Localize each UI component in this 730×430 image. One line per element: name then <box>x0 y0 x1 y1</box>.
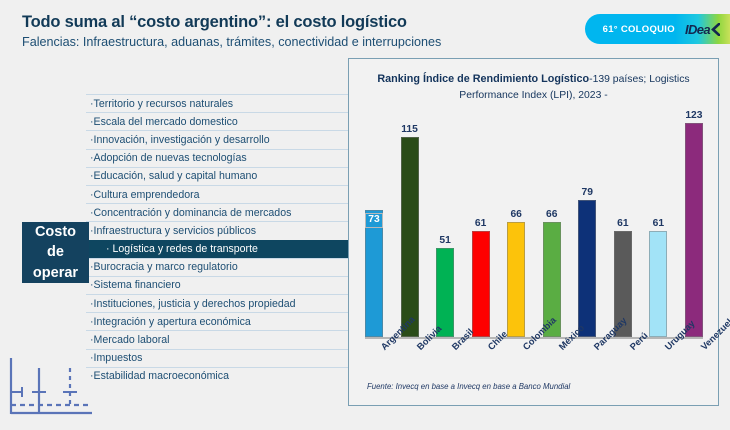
factor-row[interactable]: ·Innovación, investigación y desarrollo <box>86 130 348 148</box>
factor-label: · Logística y redes de transporte <box>86 243 258 255</box>
factor-label: ·Educación, salud y capital humano <box>86 170 257 182</box>
factor-label: ·Integración y apertura económica <box>86 316 251 328</box>
factor-row[interactable]: ·Burocracia y marco regulatorio <box>86 258 348 276</box>
bar-bolivia[interactable] <box>401 137 419 337</box>
factor-label: ·Instituciones, justicia y derechos prop… <box>86 298 296 310</box>
coloquio-badge-label: 61° COLOQUIO <box>603 24 675 35</box>
bar-uruguay[interactable] <box>649 231 667 337</box>
bar-argentina[interactable] <box>365 210 383 337</box>
costo-box-line-3: operar <box>33 263 78 284</box>
chart-title-main: Ranking Índice de Rendimiento Logístico <box>377 73 589 85</box>
factor-label: ·Adopción de nuevas tecnologías <box>86 152 247 164</box>
bar-slot: 61 <box>614 111 632 337</box>
factor-row[interactable]: ·Instituciones, justicia y derechos prop… <box>86 294 348 312</box>
bar-slot: 73 <box>365 111 383 337</box>
factor-label: ·Burocracia y marco regulatorio <box>86 261 238 273</box>
page-title: Todo suma al “costo argentino”: el costo… <box>22 13 407 32</box>
factor-row[interactable]: ·Estabilidad macroeconómica <box>86 367 348 385</box>
decorative-chart-icon <box>8 350 94 422</box>
factor-label: ·Mercado laboral <box>86 334 170 346</box>
bar-slot: 79 <box>578 111 596 337</box>
bar-group: 7311551616666796161123 <box>361 111 707 337</box>
bar-colombia[interactable] <box>507 222 525 337</box>
chevron-left-icon <box>711 23 720 36</box>
chart-title: Ranking Índice de Rendimiento Logístico-… <box>349 72 718 103</box>
factor-row[interactable]: ·Infraestructura y servicios públicos <box>86 221 348 239</box>
factor-row[interactable]: ·Adopción de nuevas tecnologías <box>86 149 348 167</box>
bar-value-label: 115 <box>401 125 418 135</box>
chart-panel: Ranking Índice de Rendimiento Logístico-… <box>348 58 719 406</box>
bar-slot: 51 <box>436 111 454 337</box>
bar-chile[interactable] <box>472 231 490 337</box>
factor-label: ·Territorio y recursos naturales <box>86 98 233 110</box>
factor-label: ·Infraestructura y servicios públicos <box>86 225 256 237</box>
costo-de-operar-box: Costo de operar <box>22 222 89 283</box>
factor-label: ·Innovación, investigación y desarrollo <box>86 134 270 146</box>
factor-row[interactable]: ·Escala del mercado domestico <box>86 112 348 130</box>
factor-list: ·Territorio y recursos naturales·Escala … <box>86 94 348 385</box>
bar-slot: 66 <box>507 111 525 337</box>
bar-value-label: 61 <box>617 219 628 229</box>
costo-box-line-1: Costo <box>35 222 76 243</box>
factor-row[interactable]: ·Educación, salud y capital humano <box>86 167 348 185</box>
factor-row[interactable]: ·Integración y apertura económica <box>86 312 348 330</box>
factor-label: ·Concentración y dominancia de mercados <box>86 207 291 219</box>
costo-box-line-2: de <box>47 242 64 263</box>
plot-area: 7311551616666796161123 <box>361 111 707 337</box>
bar-value-label: 123 <box>685 111 702 121</box>
bar-brasil[interactable] <box>436 248 454 337</box>
header: Todo suma al “costo argentino”: el costo… <box>0 0 730 58</box>
bar-value-label: 66 <box>510 210 521 220</box>
page-subtitle: Falencias: Infraestructura, aduanas, trá… <box>22 35 441 49</box>
factor-row[interactable]: ·Mercado laboral <box>86 330 348 348</box>
bar-value-label: 73 <box>365 213 382 228</box>
factor-label: ·Estabilidad macroeconómica <box>86 370 229 382</box>
bar-slot: 61 <box>649 111 667 337</box>
bar-value-label: 51 <box>439 236 450 246</box>
factor-label: ·Escala del mercado domestico <box>86 116 238 128</box>
bar-value-label: 79 <box>582 188 593 198</box>
factor-row-highlighted[interactable]: · Logística y redes de transporte <box>86 240 348 258</box>
factor-row[interactable]: ·Sistema financiero <box>86 276 348 294</box>
coloquio-badge: 61° COLOQUIO IDea <box>585 14 730 44</box>
bar-slot: 66 <box>543 111 561 337</box>
factor-row[interactable]: ·Concentración y dominancia de mercados <box>86 203 348 221</box>
factor-label: ·Cultura emprendedora <box>86 189 200 201</box>
factor-row[interactable]: ·Cultura emprendedora <box>86 185 348 203</box>
factor-row[interactable]: ·Impuestos <box>86 349 348 367</box>
bar-paraguay[interactable] <box>578 200 596 337</box>
bar-slot: 115 <box>401 111 419 337</box>
bar-slot: 123 <box>685 111 703 337</box>
factor-label: ·Sistema financiero <box>86 279 181 291</box>
bar-slot: 61 <box>472 111 490 337</box>
factor-row[interactable]: ·Territorio y recursos naturales <box>86 94 348 112</box>
chart-source-note: Fuente: Invecq en base a Invecq en base … <box>367 382 570 391</box>
idea-logo-text: IDea <box>685 22 710 37</box>
bar-venezuela[interactable] <box>685 123 703 337</box>
bar-value-label: 66 <box>546 210 557 220</box>
factor-label: ·Impuestos <box>86 352 142 364</box>
idea-logo: IDea <box>685 22 720 37</box>
bar-value-label: 61 <box>475 219 486 229</box>
bar-value-label: 61 <box>653 219 664 229</box>
